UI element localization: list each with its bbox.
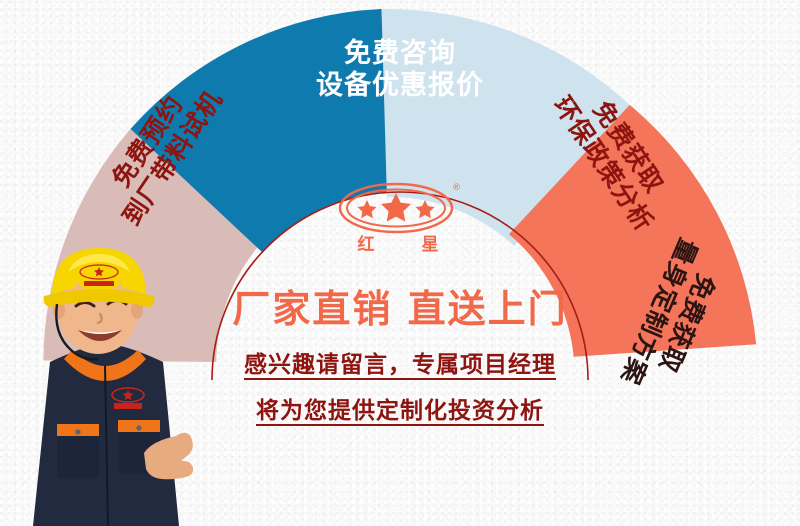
label-free-consultation: 免费咨询 设备优惠报价 bbox=[295, 38, 505, 102]
logo-brand-left: 红 bbox=[358, 234, 375, 255]
center-content: ® 红 星 厂家直销 直送上门 感兴趣请留言，专属项目经理 将为您提供定制化投资… bbox=[200, 180, 600, 425]
logo-wrapper: ® 红 星 bbox=[200, 180, 600, 260]
promo-banner: 免费预约 到厂带料试机 免费咨询 设备优惠报价 免费获取 环保政策分析 免费获取… bbox=[0, 0, 800, 526]
hongxing-logo-icon: ® 红 星 bbox=[334, 180, 466, 256]
headline-text: 厂家直销 直送上门 bbox=[200, 278, 600, 333]
logo-brand-right: 星 bbox=[422, 235, 439, 255]
worker-photo bbox=[0, 240, 215, 526]
registered-mark-icon: ® bbox=[452, 183, 461, 193]
sub-line-2: 将为您提供定制化投资分析 bbox=[200, 391, 600, 425]
label-free-consultation-line1: 免费咨询 bbox=[295, 38, 505, 70]
sub-line-1: 感兴趣请留言，专属项目经理 bbox=[200, 345, 600, 379]
label-free-consultation-line2: 设备优惠报价 bbox=[295, 70, 505, 102]
